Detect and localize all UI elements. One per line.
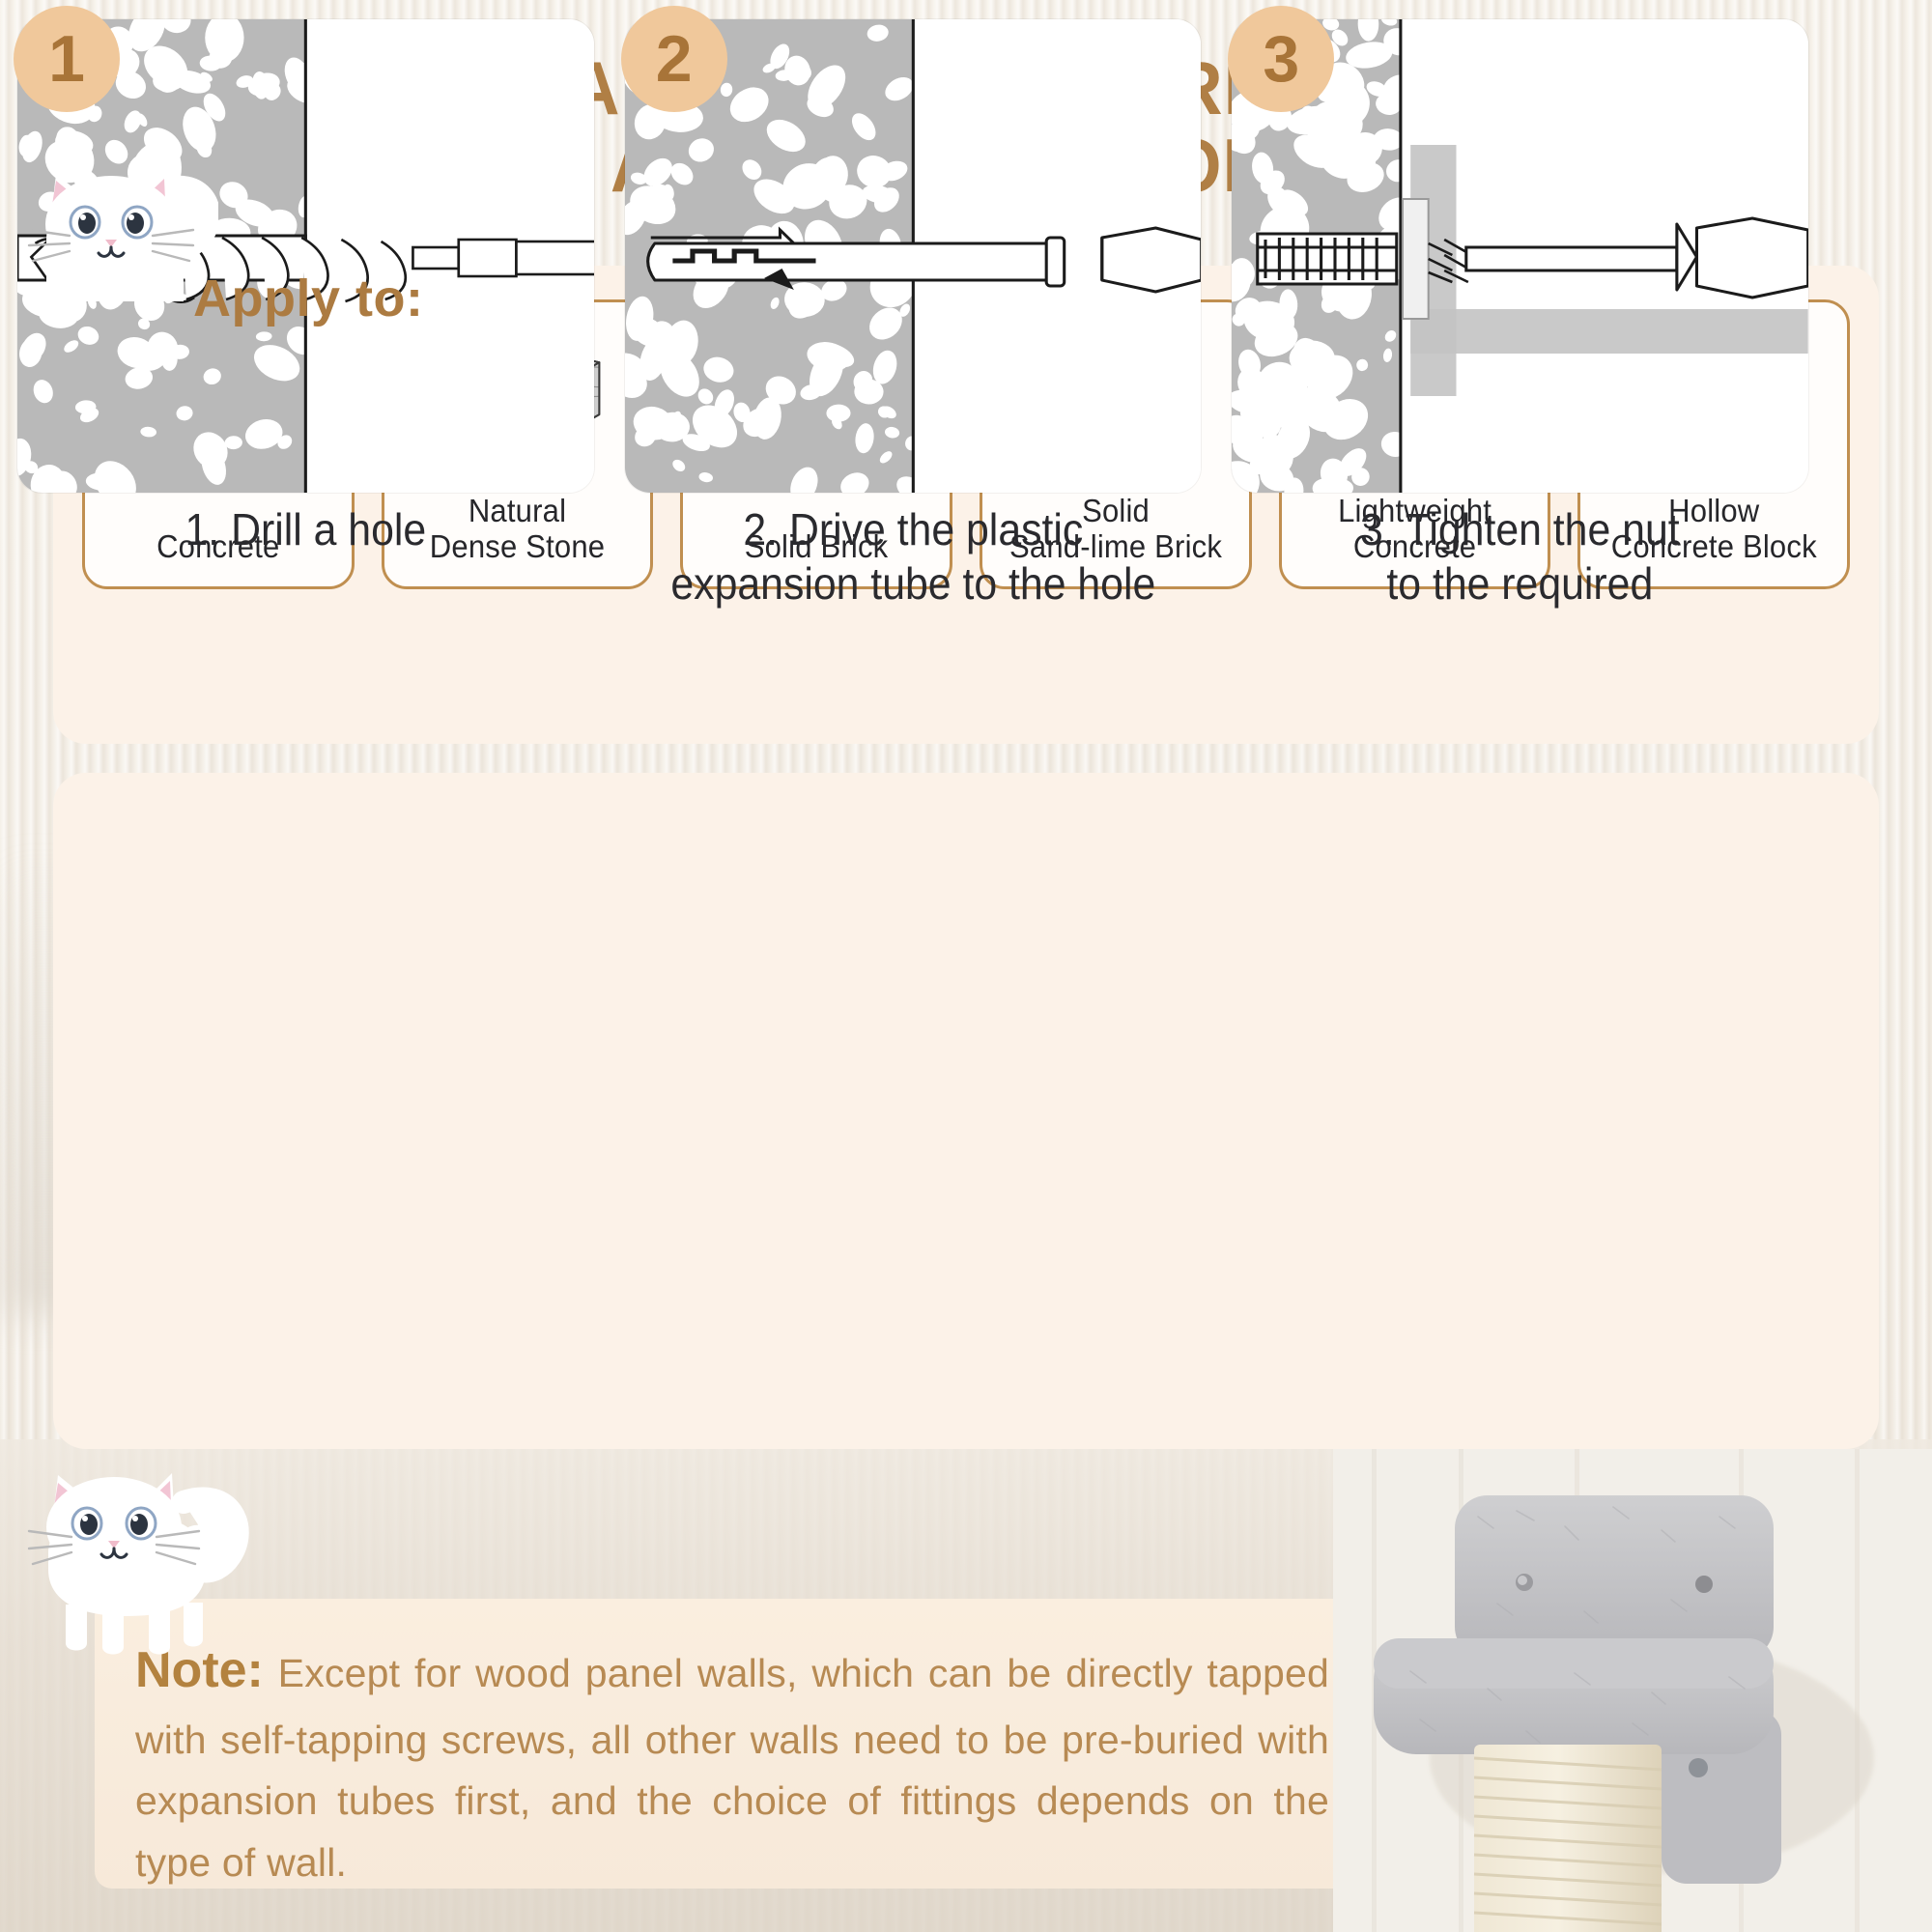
step-caption: 2. Drive the plasticexpansion tube to th… <box>645 502 1181 611</box>
step-caption: 1. Drill a hole <box>38 502 574 556</box>
steps-list: 11. Drill a hole 22. Drive the plasticex… <box>17 19 1808 493</box>
steps-card <box>53 773 1879 1449</box>
note-body: Except for wood panel walls, which can b… <box>135 1651 1329 1885</box>
cat-tree-perch-photo <box>1333 1449 1932 1932</box>
white-cat-icon <box>14 1463 255 1671</box>
white-cat-icon <box>14 147 218 321</box>
note-card: Note: Except for wood panel walls, which… <box>95 1599 1370 1889</box>
step-number-badge: 2 <box>621 6 727 112</box>
step-number-badge: 1 <box>14 6 120 112</box>
step-panel[interactable]: 22. Drive the plasticexpansion tube to t… <box>625 19 1202 493</box>
apply-to-label: Apply to: <box>193 269 423 328</box>
step-panel[interactable]: 33. Tighten the nutto the required <box>1232 19 1808 493</box>
step-caption: 3. Tighten the nutto the required <box>1252 502 1788 611</box>
note-text: Note: Except for wood panel walls, which… <box>135 1632 1329 1893</box>
step-number-badge: 3 <box>1228 6 1334 112</box>
